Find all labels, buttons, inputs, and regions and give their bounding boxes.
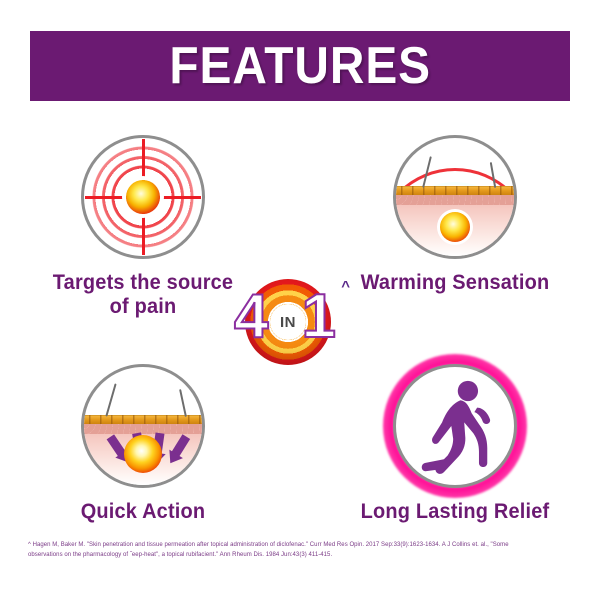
page-title: FEATURES: [169, 40, 431, 92]
target-core-glow: [126, 180, 160, 214]
feature-label-targets-the-source-of-pain: Targets the source of pain: [34, 271, 253, 318]
feature-quick-action: Quick Action: [28, 362, 258, 524]
badge-digit-left: 4: [234, 286, 268, 348]
feature-long-lasting-relief: Long Lasting Relief: [340, 362, 570, 524]
hair-follicle: [179, 389, 187, 417]
feature-label-line-1: Targets the source: [34, 271, 253, 295]
skin-penetration-arrows-icon: [79, 362, 207, 490]
feature-label-line-2: of pain: [34, 295, 253, 319]
feature-label-line-1: Quick Action: [34, 500, 253, 524]
icon-circle-frame: [81, 364, 205, 488]
feature-label-warming-sensation: Warming Sensation: [346, 271, 565, 295]
feature-label-long-lasting-relief: Long Lasting Relief: [346, 500, 565, 524]
target-crosshair-icon: [79, 133, 207, 261]
feature-label-line-1: Long Lasting Relief: [346, 500, 565, 524]
feature-label-quick-action: Quick Action: [34, 500, 253, 524]
runner-silhouette-icon: [396, 367, 514, 485]
features-poster: FEATURES Targets the source of pain: [0, 0, 600, 600]
dermal-papillae: [393, 194, 517, 205]
feature-label-line-1: Warming Sensation: [346, 271, 565, 295]
dermal-papillae: [81, 423, 205, 434]
badge-footnote-caret: ^: [341, 278, 350, 295]
header-banner: FEATURES: [30, 31, 570, 101]
icon-circle-frame: [393, 364, 517, 488]
epidermis-texture: [393, 186, 517, 195]
four-in-one-badge: IN 4 1 ^: [232, 278, 344, 366]
warming-core-glow: [440, 212, 470, 242]
footnote-line-1: ^ Hagen M, Baker M. "Skin penetration an…: [28, 541, 576, 551]
quick-action-core-glow: [124, 435, 162, 473]
footnote-line-2: observations on the pharmacology of ˝eep…: [28, 551, 576, 561]
running-person-icon: [391, 362, 519, 490]
hair-follicle: [105, 383, 116, 416]
badge-digit-right: 1: [302, 286, 336, 348]
skin-warming-waves-icon: [391, 133, 519, 261]
icon-circle-frame: [393, 135, 517, 259]
feature-targets-the-source-of-pain: Targets the source of pain: [28, 133, 258, 318]
feature-warming-sensation: Warming Sensation: [340, 133, 570, 295]
footnote: ^ Hagen M, Baker M. "Skin penetration an…: [28, 541, 576, 561]
